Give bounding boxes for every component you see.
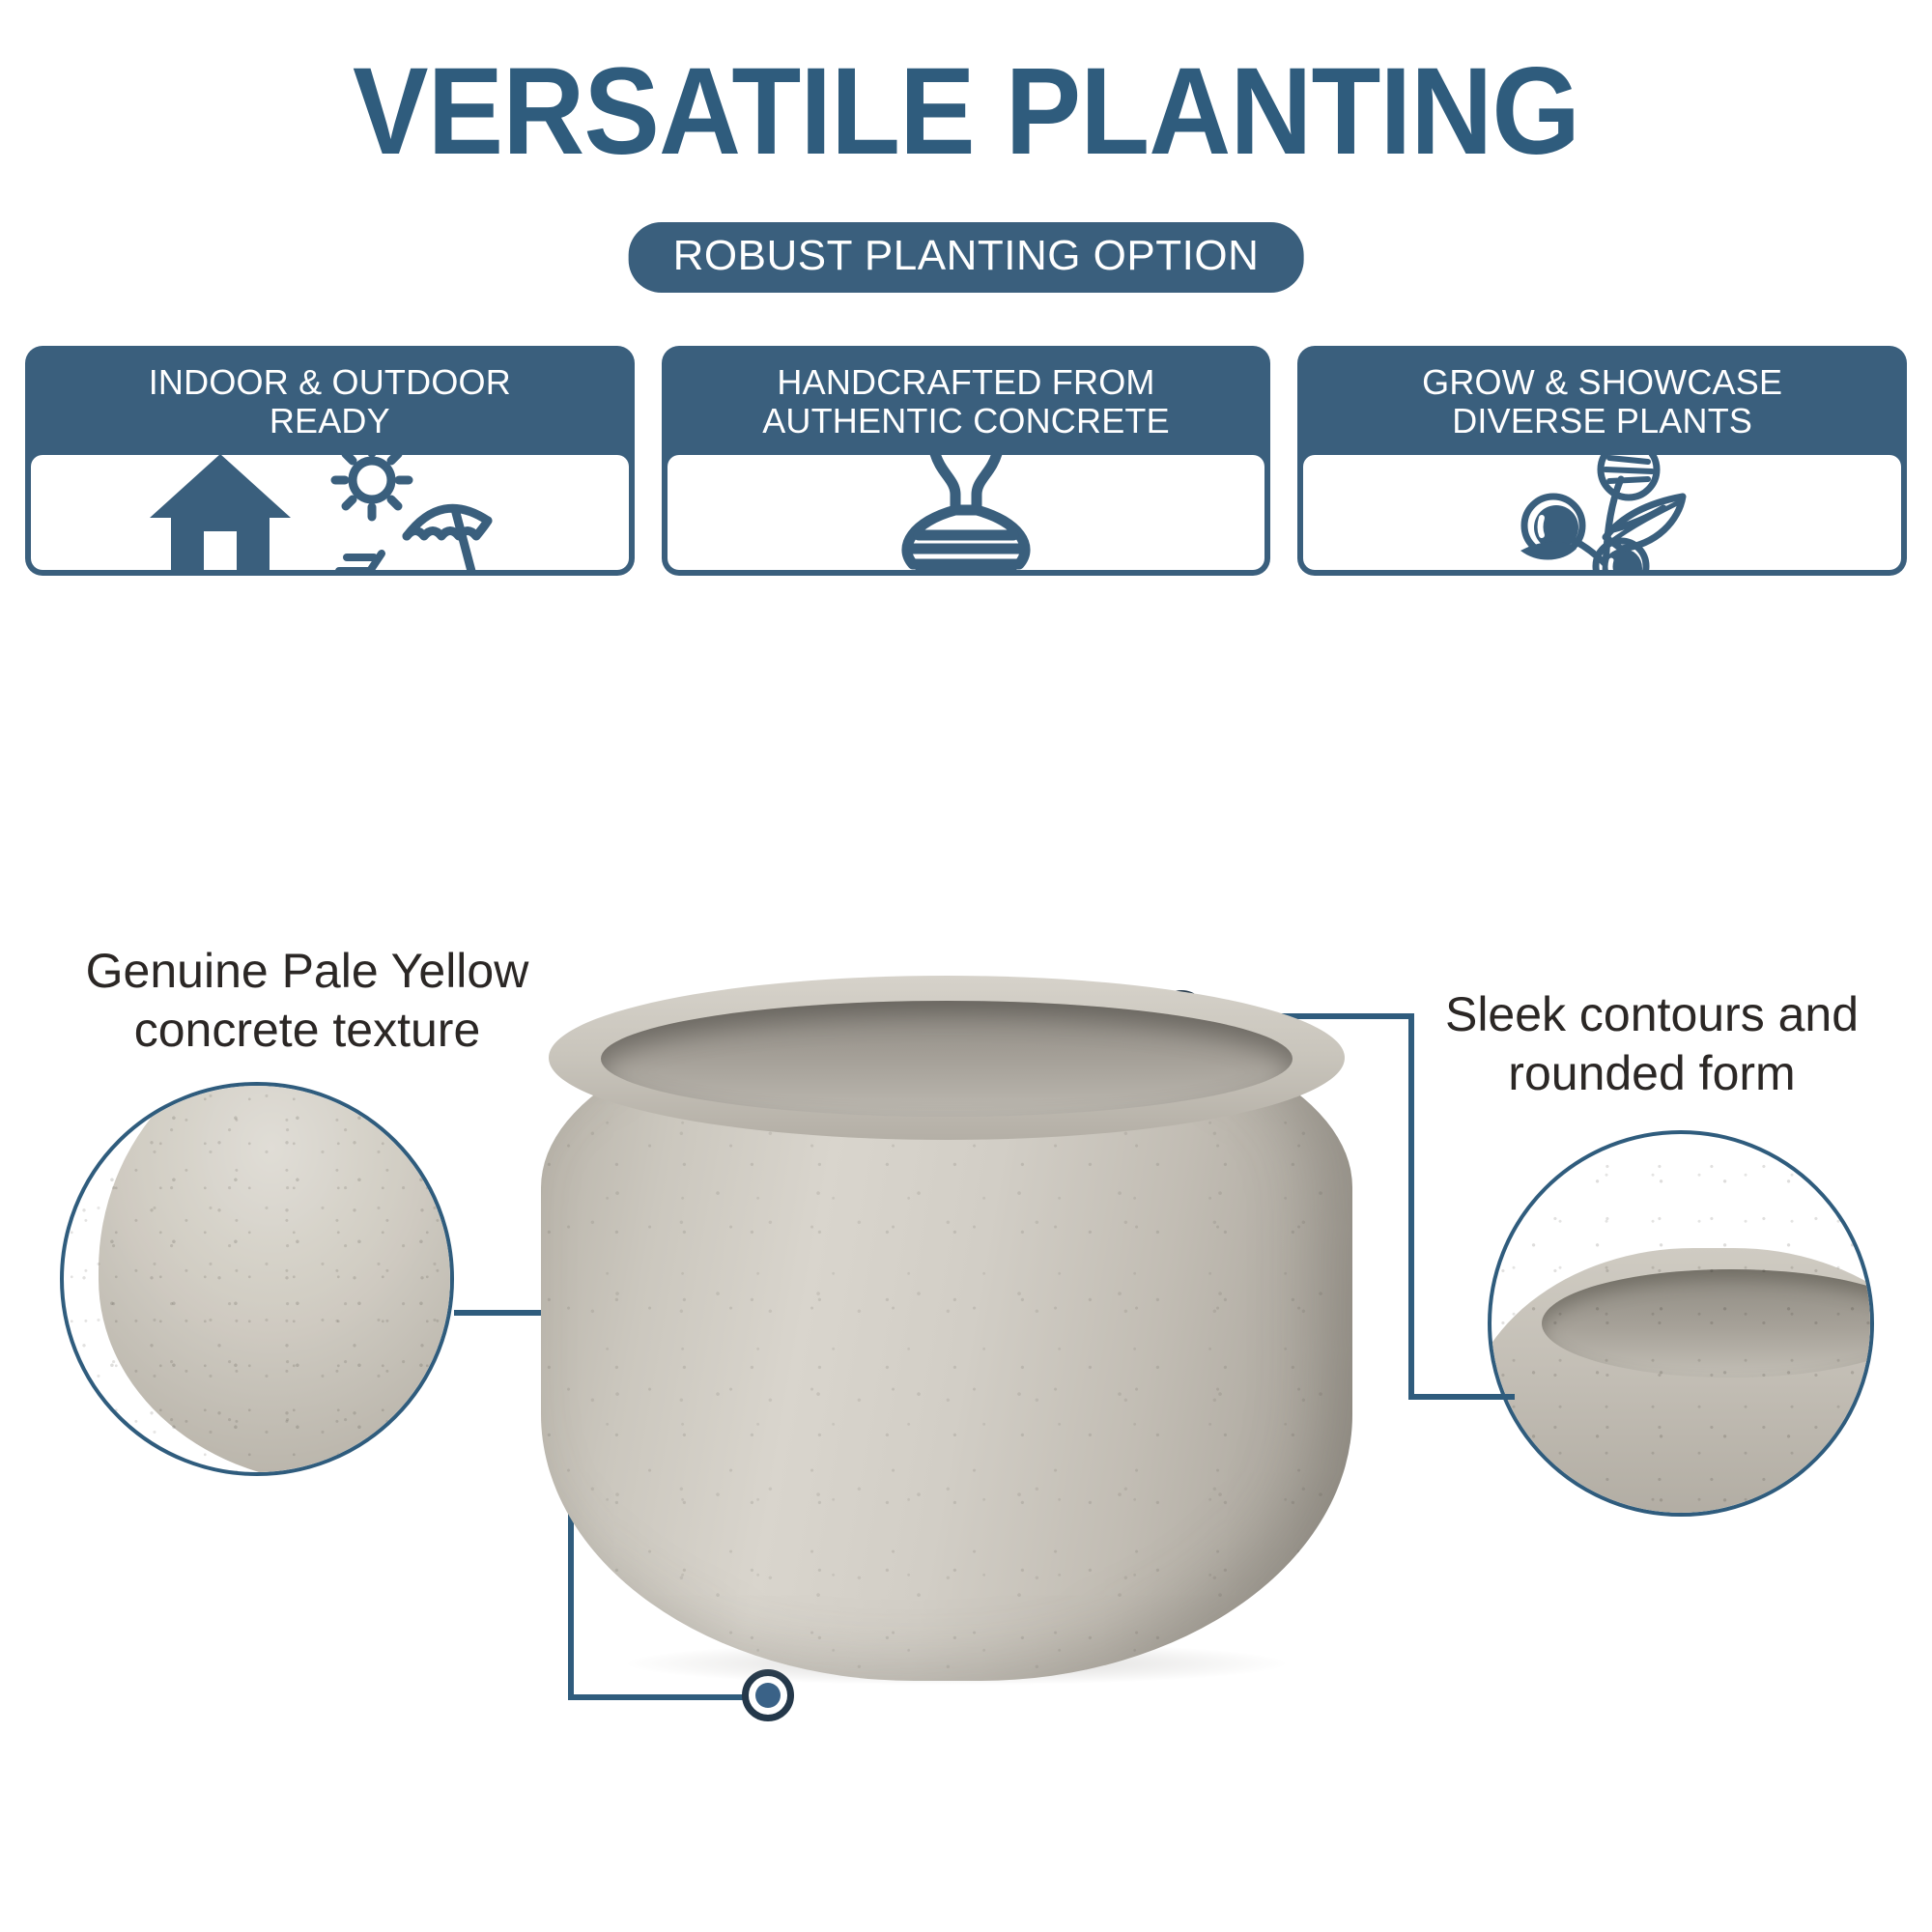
planter-interior — [601, 1001, 1293, 1117]
striped-berry — [1601, 455, 1657, 498]
feature-card-header: GROW & SHOWCASE DIVERSE PLANTS — [1303, 352, 1901, 455]
house-icon — [148, 455, 293, 570]
feature-card-row: INDOOR & OUTDOOR READY — [25, 346, 1907, 576]
detail-inset-image — [1492, 1134, 1870, 1513]
page-title: VERSATILE PLANTING — [77, 50, 1855, 174]
feature-card-header-line1: GROW & SHOWCASE — [1311, 363, 1893, 402]
subtitle-pill-badge: ROBUST PLANTING OPTION — [629, 222, 1304, 293]
detail-inset-rim — [1488, 1130, 1874, 1517]
feature-card-header-line2: DIVERSE PLANTS — [1311, 402, 1893, 440]
detail-inset-texture — [60, 1082, 454, 1476]
detail-inset-image — [64, 1086, 450, 1472]
sun-icon — [335, 455, 409, 518]
vase-icon — [884, 455, 1048, 570]
feature-card-diverse-plants: GROW & SHOWCASE DIVERSE PLANTS — [1297, 346, 1907, 576]
callout-label-texture: Genuine Pale Yellow concrete texture — [46, 942, 568, 1060]
feature-card-body — [1303, 455, 1901, 570]
feature-card-header-line1: HANDCRAFTED FROM — [675, 363, 1258, 402]
infographic-canvas: VERSATILE PLANTING ROBUST PLANTING OPTIO… — [0, 0, 1932, 1932]
feature-card-header: INDOOR & OUTDOOR READY — [31, 352, 629, 455]
feature-card-header-line1: INDOOR & OUTDOOR — [39, 363, 621, 402]
feature-card-body — [668, 455, 1265, 570]
feature-card-header: HANDCRAFTED FROM AUTHENTIC CONCRETE — [668, 352, 1265, 455]
beach-umbrella-icon — [318, 455, 511, 570]
berry-branch-icon — [1513, 455, 1692, 570]
callout-label-form: Sleek contours and rounded form — [1391, 985, 1913, 1103]
feature-card-header-line2: AUTHENTIC CONCRETE — [675, 402, 1258, 440]
feature-card-authentic-concrete: HANDCRAFTED FROM AUTHENTIC CONCRETE — [662, 346, 1271, 576]
product-image-planter — [541, 976, 1352, 1681]
feature-card-header-line2: READY — [39, 402, 621, 440]
feature-card-body — [31, 455, 629, 570]
feature-card-indoor-outdoor: INDOOR & OUTDOOR READY — [25, 346, 635, 576]
